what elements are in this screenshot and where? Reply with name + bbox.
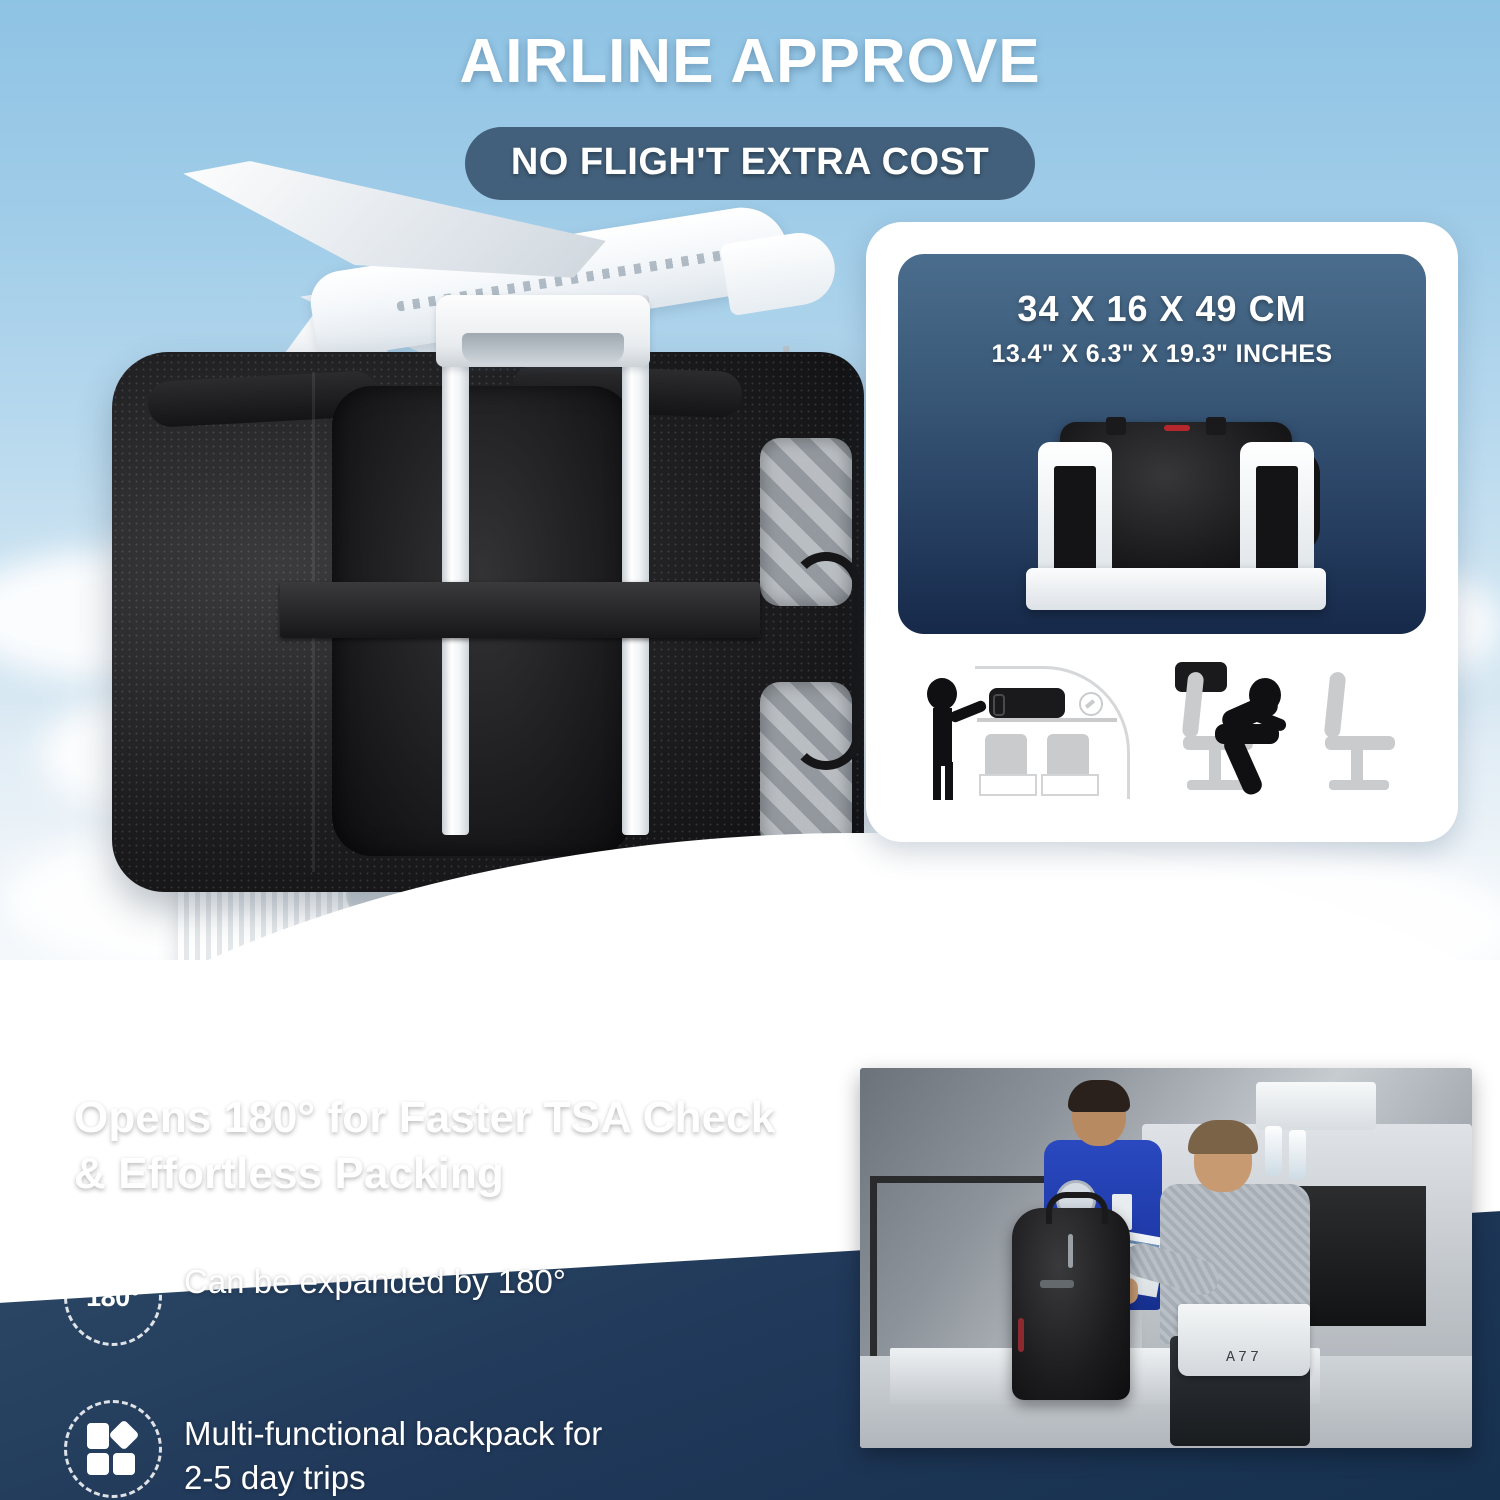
- cabin-pictogram-group: [898, 658, 1426, 806]
- list-item: 180° Can be expanded by 180°: [64, 1248, 864, 1346]
- feature-text-multifunctional-line1: Multi-functional backpack for: [184, 1412, 602, 1456]
- feature-text-expand: Can be expanded by 180°: [184, 1248, 566, 1304]
- expand-180-degree-icon-label: 180°: [86, 1282, 140, 1313]
- trolley-handle: [436, 295, 666, 835]
- traveler: [1160, 1126, 1340, 1426]
- luggage-passthrough-strap: [280, 582, 760, 638]
- dimensions-inner-panel: 34 X 16 X 49 CM 13.4" X 6.3" X 19.3" INC…: [898, 254, 1426, 634]
- stacked-security-bin: [1256, 1082, 1376, 1130]
- product-infographic-poster: AIRLINE APPROVE NO FLIGH'T EXTRA COST 34…: [0, 0, 1500, 1500]
- lower-headline: Opens 180° for Faster TSA Check & Effort…: [74, 1090, 864, 1203]
- multi-compartment-icon: [64, 1400, 162, 1498]
- check-circle-icon: [1079, 692, 1103, 716]
- multi-compartment-shapes: [87, 1423, 139, 1475]
- overhead-bin-pictogram: [911, 662, 1149, 802]
- bag-in-overhead-bin: [989, 688, 1065, 718]
- dimensions-cm-label: 34 X 16 X 49 CM: [898, 288, 1426, 330]
- security-bin: A77: [1178, 1304, 1310, 1376]
- tsa-checkpoint-photo: A77: [860, 1068, 1472, 1448]
- feature-text-multifunctional-line2: 2-5 day trips: [184, 1456, 602, 1500]
- feature-text-multifunctional: Multi-functional backpack for 2-5 day tr…: [184, 1400, 602, 1500]
- security-bin-code: A77: [1178, 1349, 1310, 1366]
- backpack-on-conveyor: [1012, 1208, 1130, 1400]
- lower-headline-line2: & Effortless Packing: [74, 1146, 864, 1202]
- dimensions-inches-label: 13.4" X 6.3" X 19.3" INCHES: [898, 340, 1426, 369]
- expand-180-degree-icon: 180°: [64, 1248, 162, 1346]
- dimensions-spec-card: 34 X 16 X 49 CM 13.4" X 6.3" X 19.3" INC…: [866, 222, 1458, 842]
- list-item: Multi-functional backpack for 2-5 day tr…: [64, 1400, 864, 1500]
- under-seat-pictogram: [1175, 662, 1413, 802]
- lower-headline-line1: Opens 180° for Faster TSA Check: [74, 1090, 864, 1146]
- airline-sizer-frame-icon: [1026, 394, 1326, 610]
- feature-list: 180° Can be expanded by 180° Multi-funct…: [64, 1248, 864, 1500]
- page-title: AIRLINE APPROVE: [0, 26, 1500, 97]
- no-extra-cost-badge: NO FLIGH'T EXTRA COST: [465, 127, 1035, 200]
